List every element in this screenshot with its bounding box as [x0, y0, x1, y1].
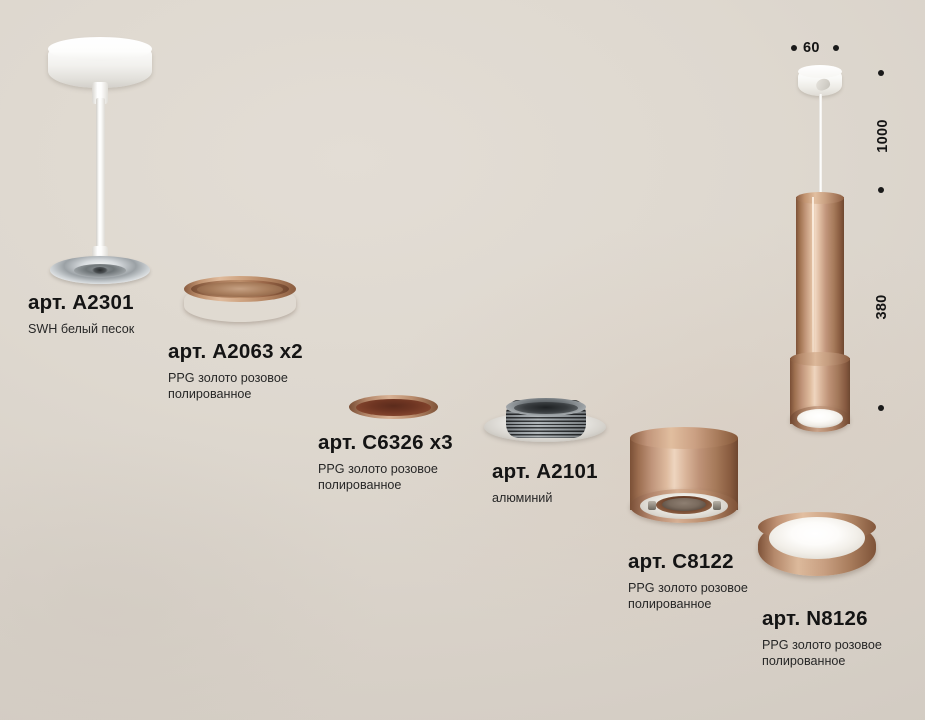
- label-a2101-art: арт. A2101: [492, 461, 598, 483]
- dim-label-fixture-height: 380: [874, 284, 890, 330]
- product-diagram-canvas: арт. A2301 SWH белый песок арт. A2063 x2…: [0, 0, 925, 720]
- dim-dot-fixture-bottom: [878, 405, 884, 411]
- c6326-cylinder-body: [349, 257, 438, 409]
- label-c6326-art: арт. C6326 x3: [318, 432, 508, 454]
- assembly-light-lens: [797, 409, 843, 428]
- part-image-a2101: [484, 398, 606, 448]
- part-image-c8122: [630, 427, 738, 537]
- dim-dot-total-bottom: [878, 187, 884, 193]
- label-a2063-art: арт. A2063 x2: [168, 341, 358, 363]
- a2301-chrome-base-center: [92, 267, 108, 274]
- dim-label-total-height: 1000: [875, 107, 891, 165]
- a2301-ceiling-cup-top: [48, 37, 152, 61]
- a2101-center-hole: [514, 402, 578, 414]
- c8122-drum-top: [630, 427, 738, 449]
- n8126-white-diffuser: [769, 517, 865, 559]
- dim-dot-width-right: [833, 45, 839, 51]
- assembly-upper-tube-top: [796, 192, 844, 204]
- c6326-cylinder-cavity: [356, 399, 431, 416]
- dim-dot-width-left: [791, 45, 797, 51]
- c8122-screw-right: [713, 501, 721, 510]
- assembled-pendant-lamp: [780, 66, 860, 416]
- assembly-lower-housing-top: [790, 352, 850, 366]
- label-a2101-finish: алюминий: [492, 490, 598, 507]
- label-a2063-finish: PPG золото розовое полированное: [168, 370, 358, 403]
- assembly-upper-tube: [796, 197, 844, 363]
- label-a2063: арт. A2063 x2 PPG золото розовое полиров…: [168, 341, 358, 403]
- part-image-a2301: [44, 38, 156, 284]
- dim-dot-total-top: [878, 70, 884, 76]
- c8122-center-aperture-inner: [662, 498, 706, 511]
- assembly-ceiling-cup-top: [798, 65, 842, 78]
- label-c6326: арт. C6326 x3 PPG золото розовое полиров…: [318, 432, 508, 494]
- label-c6326-finish: PPG золото розовое полированное: [318, 461, 508, 494]
- label-a2301-art: арт. A2301: [28, 292, 134, 314]
- label-a2101: арт. A2101 алюминий: [492, 461, 598, 506]
- assembly-tube-highlight: [812, 197, 814, 365]
- label-n8126: арт. N8126 PPG золото розовое полированн…: [762, 608, 925, 670]
- c8122-screw-left: [648, 501, 656, 510]
- assembly-suspension-cable: [819, 94, 822, 198]
- part-image-n8126: [758, 512, 876, 588]
- part-image-a2063: [184, 276, 296, 328]
- c6326-cylinder-top: [349, 247, 438, 267]
- dim-label-width: 60: [803, 40, 820, 56]
- label-a2301-finish: SWH белый песок: [28, 321, 134, 338]
- a2301-rod: [96, 98, 105, 258]
- label-n8126-finish: PPG золото розовое полированное: [762, 637, 925, 670]
- label-n8126-art: арт. N8126: [762, 608, 925, 630]
- part-image-c6326: [349, 247, 438, 419]
- label-a2301: арт. A2301 SWH белый песок: [28, 292, 134, 337]
- a2063-ring-inner: [197, 282, 283, 297]
